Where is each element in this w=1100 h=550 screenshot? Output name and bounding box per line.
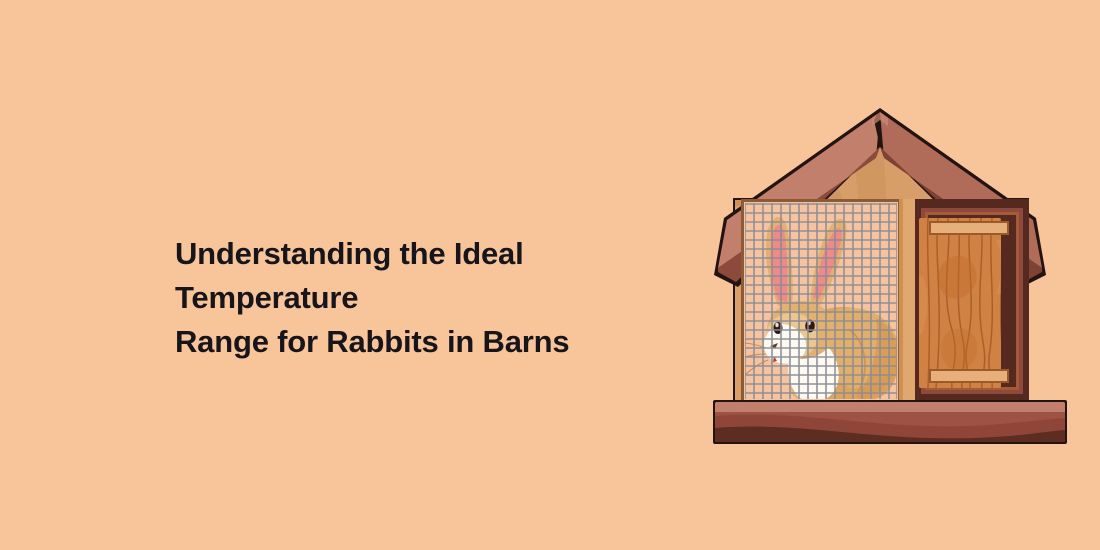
rabbit-hutch-illustration	[700, 90, 1080, 450]
wire-mesh-panel	[738, 199, 901, 403]
center-post	[899, 199, 917, 403]
door-bottom-bar	[929, 369, 1009, 383]
page-title: Understanding the Ideal Temperature Rang…	[175, 232, 715, 364]
hutch-door[interactable]	[915, 199, 1029, 403]
article-header-banner: Understanding the Ideal Temperature Rang…	[0, 0, 1100, 550]
door-top-bar	[929, 221, 1009, 235]
hutch-svg	[700, 90, 1080, 450]
base-plank	[713, 400, 1067, 444]
